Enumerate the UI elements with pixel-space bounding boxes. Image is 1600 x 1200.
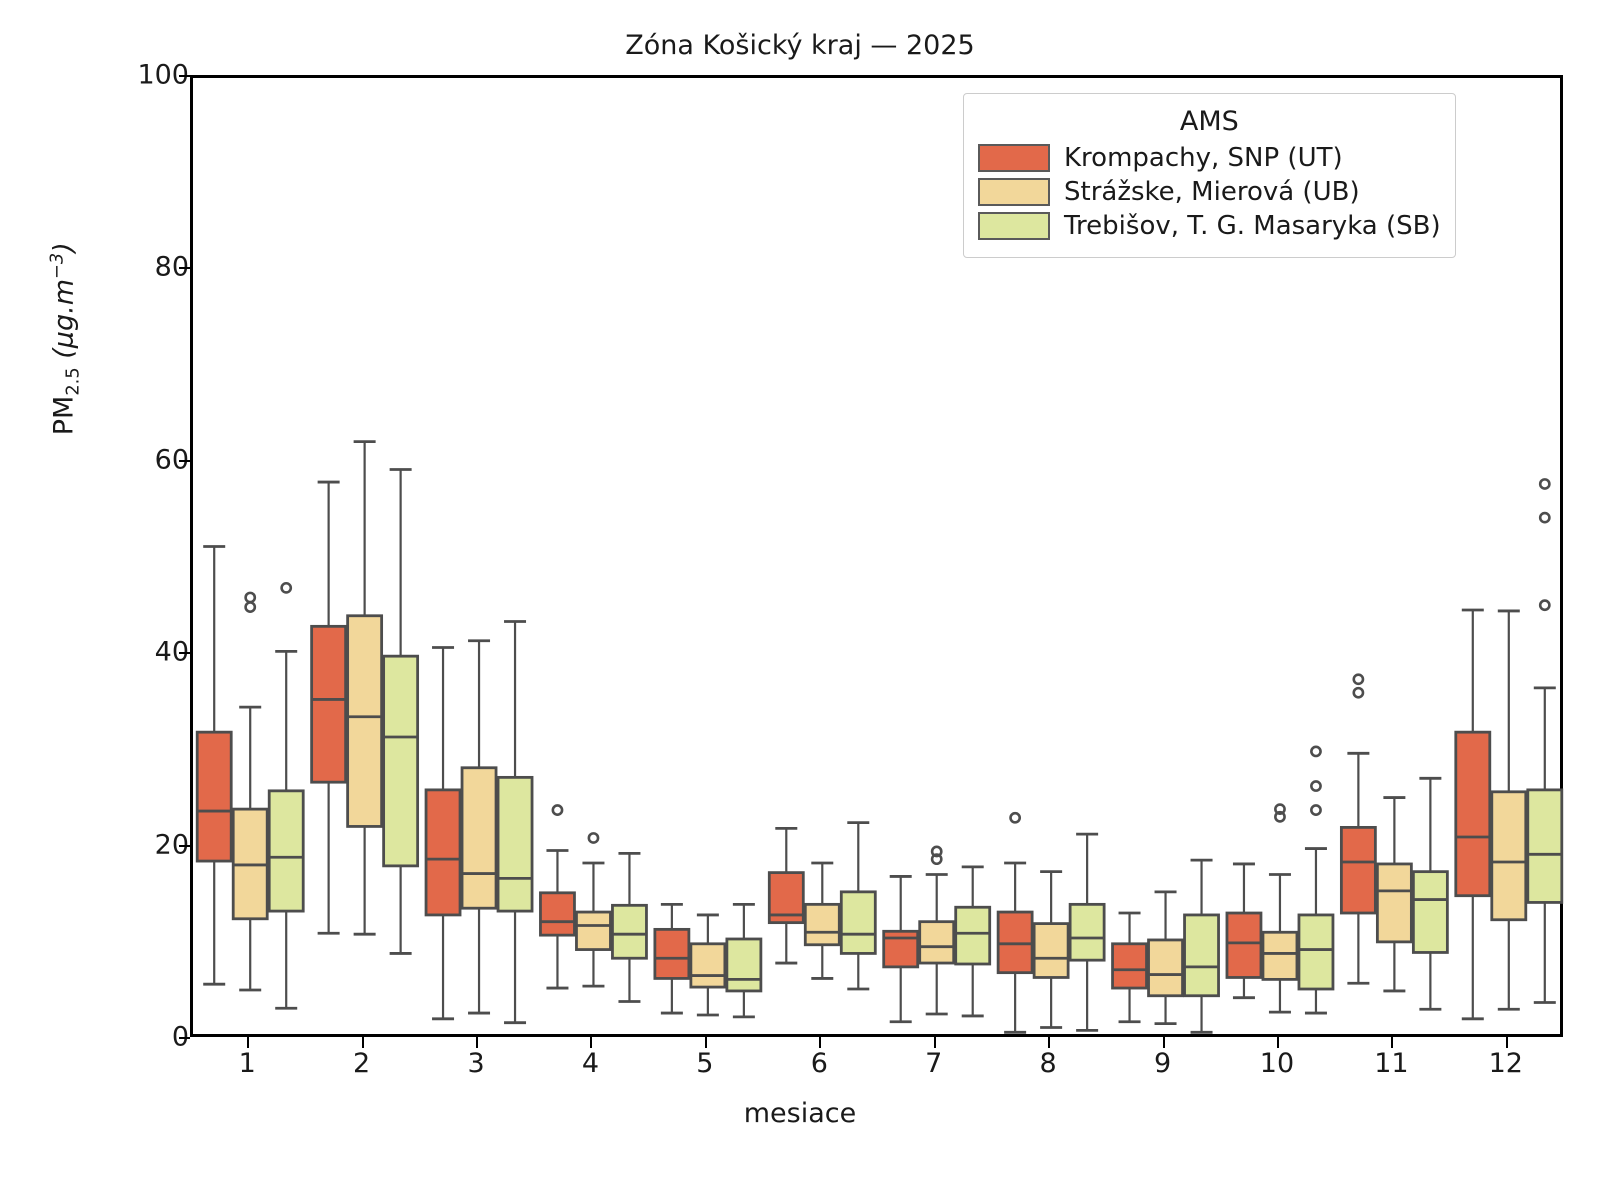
boxplot-box bbox=[884, 876, 918, 1021]
boxplot-box bbox=[1034, 872, 1068, 1028]
x-tick-mark bbox=[1391, 1037, 1393, 1048]
y-tick-label: 20 bbox=[49, 829, 189, 860]
boxplot-box bbox=[197, 546, 231, 984]
boxplot-box bbox=[426, 648, 460, 1019]
boxplot-box bbox=[1341, 675, 1375, 984]
box-rect bbox=[1413, 872, 1447, 953]
y-tick-mark bbox=[179, 75, 190, 77]
box-rect bbox=[462, 768, 496, 908]
box-rect bbox=[1227, 913, 1261, 977]
outlier-point bbox=[282, 583, 291, 592]
x-tick-mark bbox=[247, 1037, 249, 1048]
box-rect bbox=[612, 905, 646, 958]
boxplot-box bbox=[462, 641, 496, 1013]
box-rect bbox=[269, 791, 303, 911]
box-rect bbox=[576, 912, 610, 950]
y-tick-mark bbox=[179, 845, 190, 847]
x-tick-label: 3 bbox=[467, 1048, 484, 1079]
boxplot-box bbox=[540, 805, 574, 988]
legend-entry[interactable]: Trebišov, T. G. Masaryka (SB) bbox=[978, 211, 1441, 241]
boxplot-box bbox=[269, 583, 303, 1008]
legend-entry[interactable]: Strážske, Mierová (UB) bbox=[978, 177, 1441, 207]
boxplot-box bbox=[1113, 913, 1147, 1022]
boxplot-box bbox=[233, 593, 267, 990]
x-tick-label: 7 bbox=[925, 1048, 942, 1079]
box-rect bbox=[1377, 864, 1411, 942]
outlier-point bbox=[553, 805, 562, 814]
box-rect bbox=[312, 626, 346, 782]
box-rect bbox=[1034, 924, 1068, 978]
x-tick-label: 6 bbox=[811, 1048, 828, 1079]
y-tick-label: 80 bbox=[49, 252, 189, 283]
box-rect bbox=[1263, 932, 1297, 979]
x-tick-label: 10 bbox=[1260, 1048, 1294, 1079]
boxplot-box bbox=[805, 863, 839, 978]
box-rect bbox=[348, 616, 382, 827]
box-rect bbox=[691, 944, 725, 987]
boxplot-box bbox=[1149, 892, 1183, 1024]
boxplot-box bbox=[1528, 479, 1562, 1002]
boxplot-box bbox=[498, 622, 532, 1023]
x-tick-mark bbox=[705, 1037, 707, 1048]
x-tick-mark bbox=[934, 1037, 936, 1048]
boxplot-box bbox=[1377, 798, 1411, 991]
boxplot-box bbox=[956, 867, 990, 1016]
y-tick-mark bbox=[179, 460, 190, 462]
legend: AMS Krompachy, SNP (UT)Strážske, Mierová… bbox=[963, 93, 1456, 258]
box-rect bbox=[498, 777, 532, 911]
boxplot-box bbox=[841, 823, 875, 989]
legend-entry[interactable]: Krompachy, SNP (UT) bbox=[978, 143, 1441, 173]
y-axis-label-units: (μg.m bbox=[48, 279, 79, 367]
x-tick-label: 11 bbox=[1374, 1048, 1408, 1079]
legend-swatch bbox=[978, 212, 1050, 240]
y-tick-mark bbox=[179, 267, 190, 269]
box-rect bbox=[920, 922, 954, 963]
outlier-point bbox=[1540, 513, 1549, 522]
boxplot-box bbox=[769, 828, 803, 963]
outlier-point bbox=[1311, 747, 1320, 756]
x-tick-mark bbox=[476, 1037, 478, 1048]
boxplot-box bbox=[691, 915, 725, 1015]
box-rect bbox=[384, 656, 418, 866]
y-axis-label-main: PM bbox=[48, 396, 79, 436]
outlier-point bbox=[589, 833, 598, 842]
outlier-point bbox=[1311, 781, 1320, 790]
y-axis-label-sub: 2.5 bbox=[63, 367, 84, 395]
legend-swatch bbox=[978, 144, 1050, 172]
legend-label: Strážske, Mierová (UB) bbox=[1064, 177, 1360, 207]
box-rect bbox=[1185, 915, 1219, 996]
y-tick-label: 100 bbox=[49, 60, 189, 91]
box-rect bbox=[956, 907, 990, 964]
x-tick-mark bbox=[1277, 1037, 1279, 1048]
box-rect bbox=[1456, 732, 1490, 896]
x-axis-label: mesiace bbox=[0, 1098, 1600, 1129]
x-tick-label: 8 bbox=[1040, 1048, 1057, 1079]
outlier-point bbox=[246, 593, 255, 602]
box-rect bbox=[841, 892, 875, 954]
box-rect bbox=[426, 790, 460, 915]
chart-title: Zóna Košický kraj — 2025 bbox=[0, 30, 1600, 61]
box-rect bbox=[805, 904, 839, 944]
box-rect bbox=[1149, 940, 1183, 996]
outlier-point bbox=[1011, 813, 1020, 822]
x-tick-label: 1 bbox=[239, 1048, 256, 1079]
box-rect bbox=[540, 893, 574, 935]
box-rect bbox=[727, 939, 761, 991]
boxplot-box bbox=[1185, 860, 1219, 1032]
box-rect bbox=[1528, 790, 1562, 903]
outlier-point bbox=[1354, 688, 1363, 697]
legend-label: Trebišov, T. G. Masaryka (SB) bbox=[1064, 211, 1441, 241]
y-tick-label: 60 bbox=[49, 444, 189, 475]
legend-label: Krompachy, SNP (UT) bbox=[1064, 143, 1343, 173]
x-tick-mark bbox=[1506, 1037, 1508, 1048]
y-tick-label: 0 bbox=[49, 1022, 189, 1053]
boxplot-box bbox=[576, 833, 610, 986]
boxplot-box bbox=[1456, 610, 1490, 1019]
boxplot-box bbox=[1227, 864, 1261, 998]
boxplot-box bbox=[1492, 611, 1526, 1009]
box-rect bbox=[1299, 915, 1333, 989]
boxplot-box bbox=[1413, 778, 1447, 1009]
boxplot-box bbox=[1070, 834, 1104, 1030]
y-tick-mark bbox=[179, 652, 190, 654]
boxplot-box bbox=[1263, 805, 1297, 1013]
x-tick-mark bbox=[362, 1037, 364, 1048]
x-tick-label: 5 bbox=[696, 1048, 713, 1079]
chart-root: Zóna Košický kraj — 2025 PM2.5 (μg.m−3) … bbox=[0, 0, 1600, 1200]
boxplot-box bbox=[384, 470, 418, 954]
x-tick-label: 2 bbox=[353, 1048, 370, 1079]
box-rect bbox=[1341, 827, 1375, 913]
outlier-point bbox=[1540, 601, 1549, 610]
x-tick-mark bbox=[590, 1037, 592, 1048]
y-tick-mark bbox=[179, 1037, 190, 1039]
outlier-point bbox=[1540, 479, 1549, 488]
boxplot-box bbox=[920, 847, 954, 1014]
legend-entries: Krompachy, SNP (UT)Strážske, Mierová (UB… bbox=[978, 143, 1441, 241]
boxplot-box bbox=[312, 482, 346, 933]
box-rect bbox=[1492, 792, 1526, 920]
x-tick-label: 9 bbox=[1154, 1048, 1171, 1079]
box-rect bbox=[197, 732, 231, 861]
boxplot-box bbox=[727, 904, 761, 1017]
x-tick-mark bbox=[819, 1037, 821, 1048]
box-rect bbox=[1070, 904, 1104, 960]
x-tick-mark bbox=[1048, 1037, 1050, 1048]
boxplot-box bbox=[1299, 747, 1333, 1013]
outlier-point bbox=[246, 603, 255, 612]
boxplot-box bbox=[998, 813, 1032, 1032]
outlier-point bbox=[1311, 805, 1320, 814]
boxplot-box bbox=[612, 853, 646, 1001]
box-rect bbox=[655, 929, 689, 978]
legend-swatch bbox=[978, 178, 1050, 206]
box-rect bbox=[1113, 944, 1147, 988]
y-tick-label: 40 bbox=[49, 637, 189, 668]
legend-title: AMS bbox=[978, 106, 1441, 137]
x-tick-label: 12 bbox=[1489, 1048, 1523, 1079]
boxplot-box bbox=[348, 442, 382, 935]
x-tick-label: 4 bbox=[582, 1048, 599, 1079]
boxplot-box bbox=[655, 904, 689, 1013]
box-rect bbox=[998, 912, 1032, 973]
outlier-point bbox=[1354, 675, 1363, 684]
x-tick-mark bbox=[1163, 1037, 1165, 1048]
